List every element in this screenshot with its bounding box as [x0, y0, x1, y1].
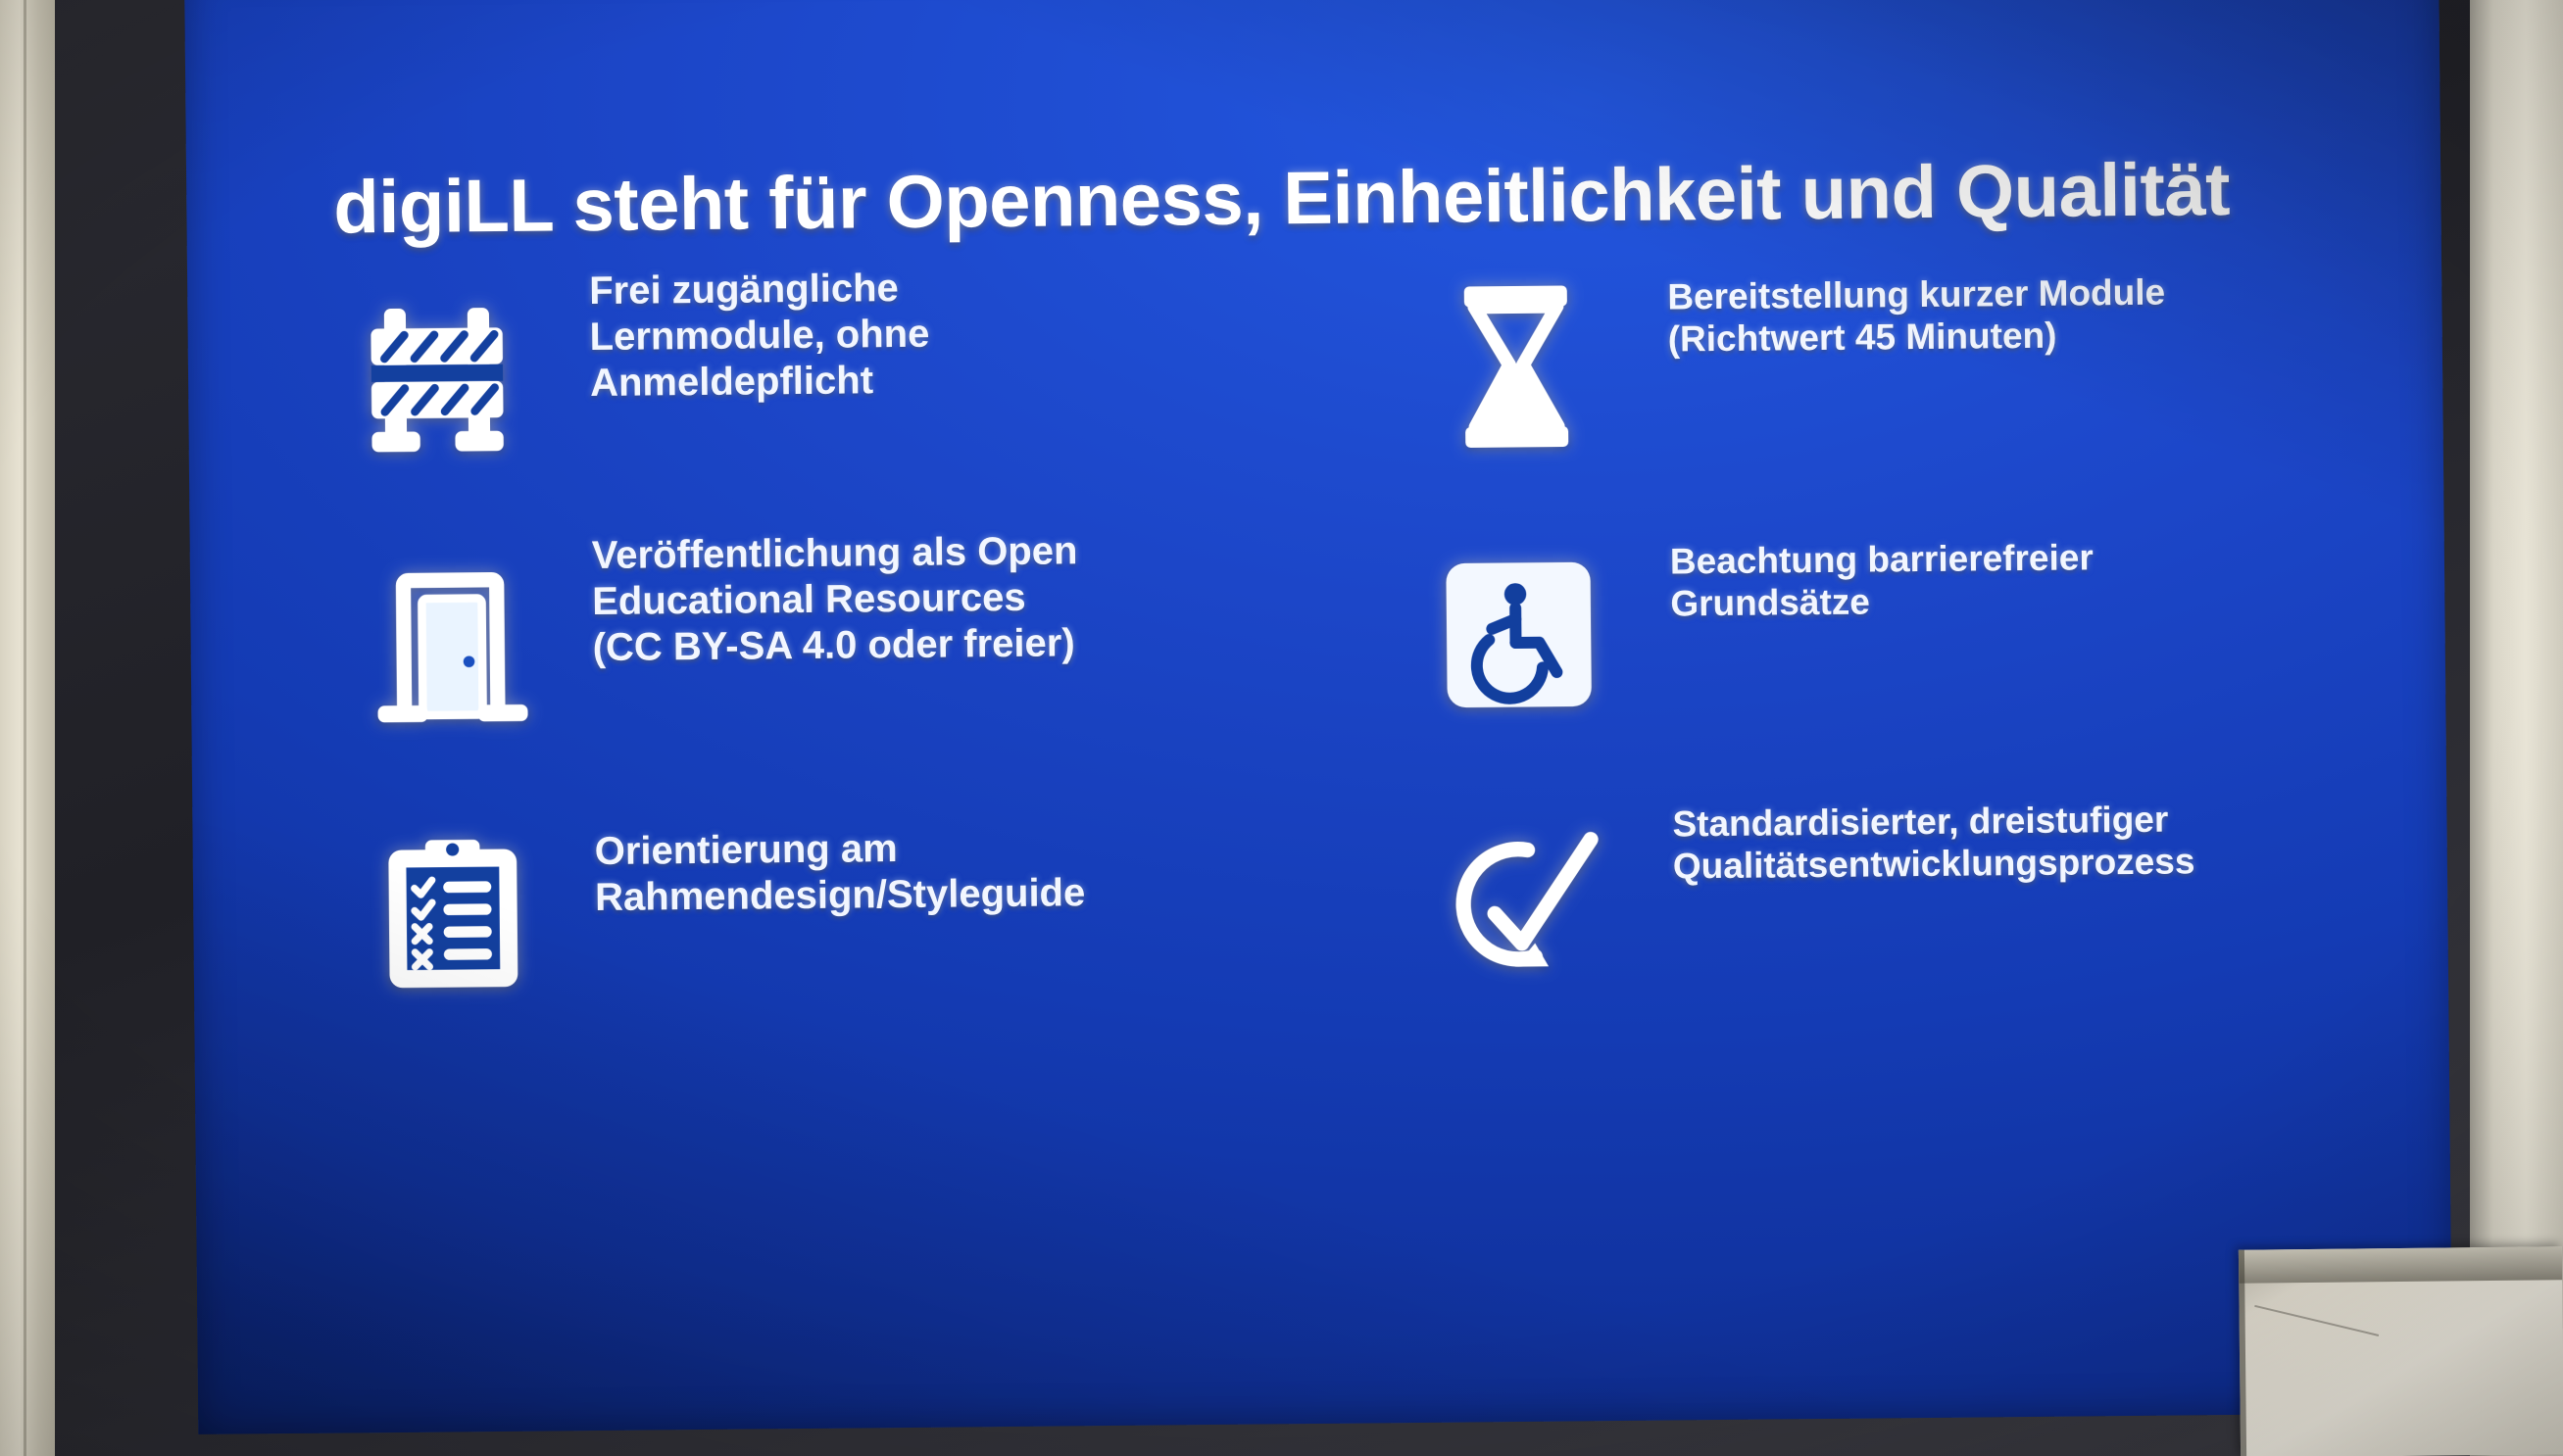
text-line: Qualitätsentwicklungsprozess: [1673, 839, 2359, 888]
wall-left: [0, 0, 55, 1456]
column-right: Bereitstellung kurzer Module (Richtwert …: [1354, 272, 2400, 1076]
text-line: Veröffentlichung als Open: [592, 526, 1337, 579]
wheelchair-accessibility-icon: [1425, 541, 1613, 729]
cycle-check-icon: [1427, 809, 1615, 997]
list-item-text: Frei zugängliche Lernmodule, ohne Anmeld…: [589, 262, 1335, 407]
flipchart-board: [2239, 1246, 2563, 1456]
text-line: (CC BY-SA 4.0 oder freier): [592, 617, 1337, 670]
wall-right: [2470, 0, 2563, 1456]
screen-bezel: digiLL steht für Openness, Einheitlichke…: [55, 0, 2474, 1456]
list-item-text: Beachtung barrierefreier Grundsätze: [1670, 534, 2357, 625]
list-item-text: Standardisierter, dreistufiger Qualitäts…: [1672, 797, 2359, 888]
flipchart-crease: [2254, 1305, 2379, 1336]
text-line: Educational Resources: [592, 572, 1337, 625]
list-item: Standardisierter, dreistufiger Qualitäts…: [1358, 801, 2400, 1076]
wall-seam: [24, 0, 26, 1456]
text-line: Bereitstellung kurzer Module: [1667, 269, 2353, 318]
hourglass-icon: [1422, 270, 1610, 459]
column-left: Frei zugängliche Lernmodule, ohne Anmeld…: [305, 283, 1352, 1087]
list-item: Orientierung am Rahmendesign/Styleguide: [310, 812, 1352, 1087]
text-line: (Richtwert 45 Minuten): [1668, 312, 2354, 361]
text-line: Grundsätze: [1670, 576, 2356, 625]
photo-of-projection-screen: digiLL steht für Openness, Einheitlichke…: [0, 0, 2563, 1456]
text-line: Lernmodule, ohne: [589, 308, 1334, 361]
list-item: Frei zugängliche Lernmodule, ohne Anmeld…: [305, 283, 1347, 558]
list-item: Veröffentlichung als Open Educational Re…: [308, 548, 1350, 822]
list-item: Bereitstellung kurzer Module (Richtwert …: [1354, 272, 2395, 547]
text-line: Rahmendesign/Styleguide: [595, 868, 1340, 921]
text-line: Beachtung barrierefreier: [1670, 534, 2356, 583]
list-item: Beachtung barrierefreier Grundsätze: [1356, 537, 2398, 811]
text-line: Frei zugängliche: [589, 262, 1334, 315]
text-line: Standardisierter, dreistufiger: [1672, 797, 2358, 846]
page-title: digiLL steht für Openness, Einheitlichke…: [333, 146, 2343, 251]
clipboard-checklist-icon: [359, 820, 547, 1008]
presentation-slide: digiLL steht für Openness, Einheitlichke…: [184, 0, 2452, 1434]
content-grid: Frei zugängliche Lernmodule, ohne Anmeld…: [285, 273, 2373, 293]
flipchart-top-rail: [2239, 1246, 2562, 1283]
list-item-text: Veröffentlichung als Open Educational Re…: [592, 526, 1338, 671]
list-item-text: Bereitstellung kurzer Module (Richtwert …: [1667, 269, 2354, 361]
text-line: Orientierung am: [594, 822, 1339, 875]
list-item-text: Orientierung am Rahmendesign/Styleguide: [594, 822, 1340, 921]
barrier-icon: [354, 281, 542, 469]
open-door-icon: [357, 552, 545, 740]
text-line: Anmeldepflicht: [590, 353, 1335, 406]
